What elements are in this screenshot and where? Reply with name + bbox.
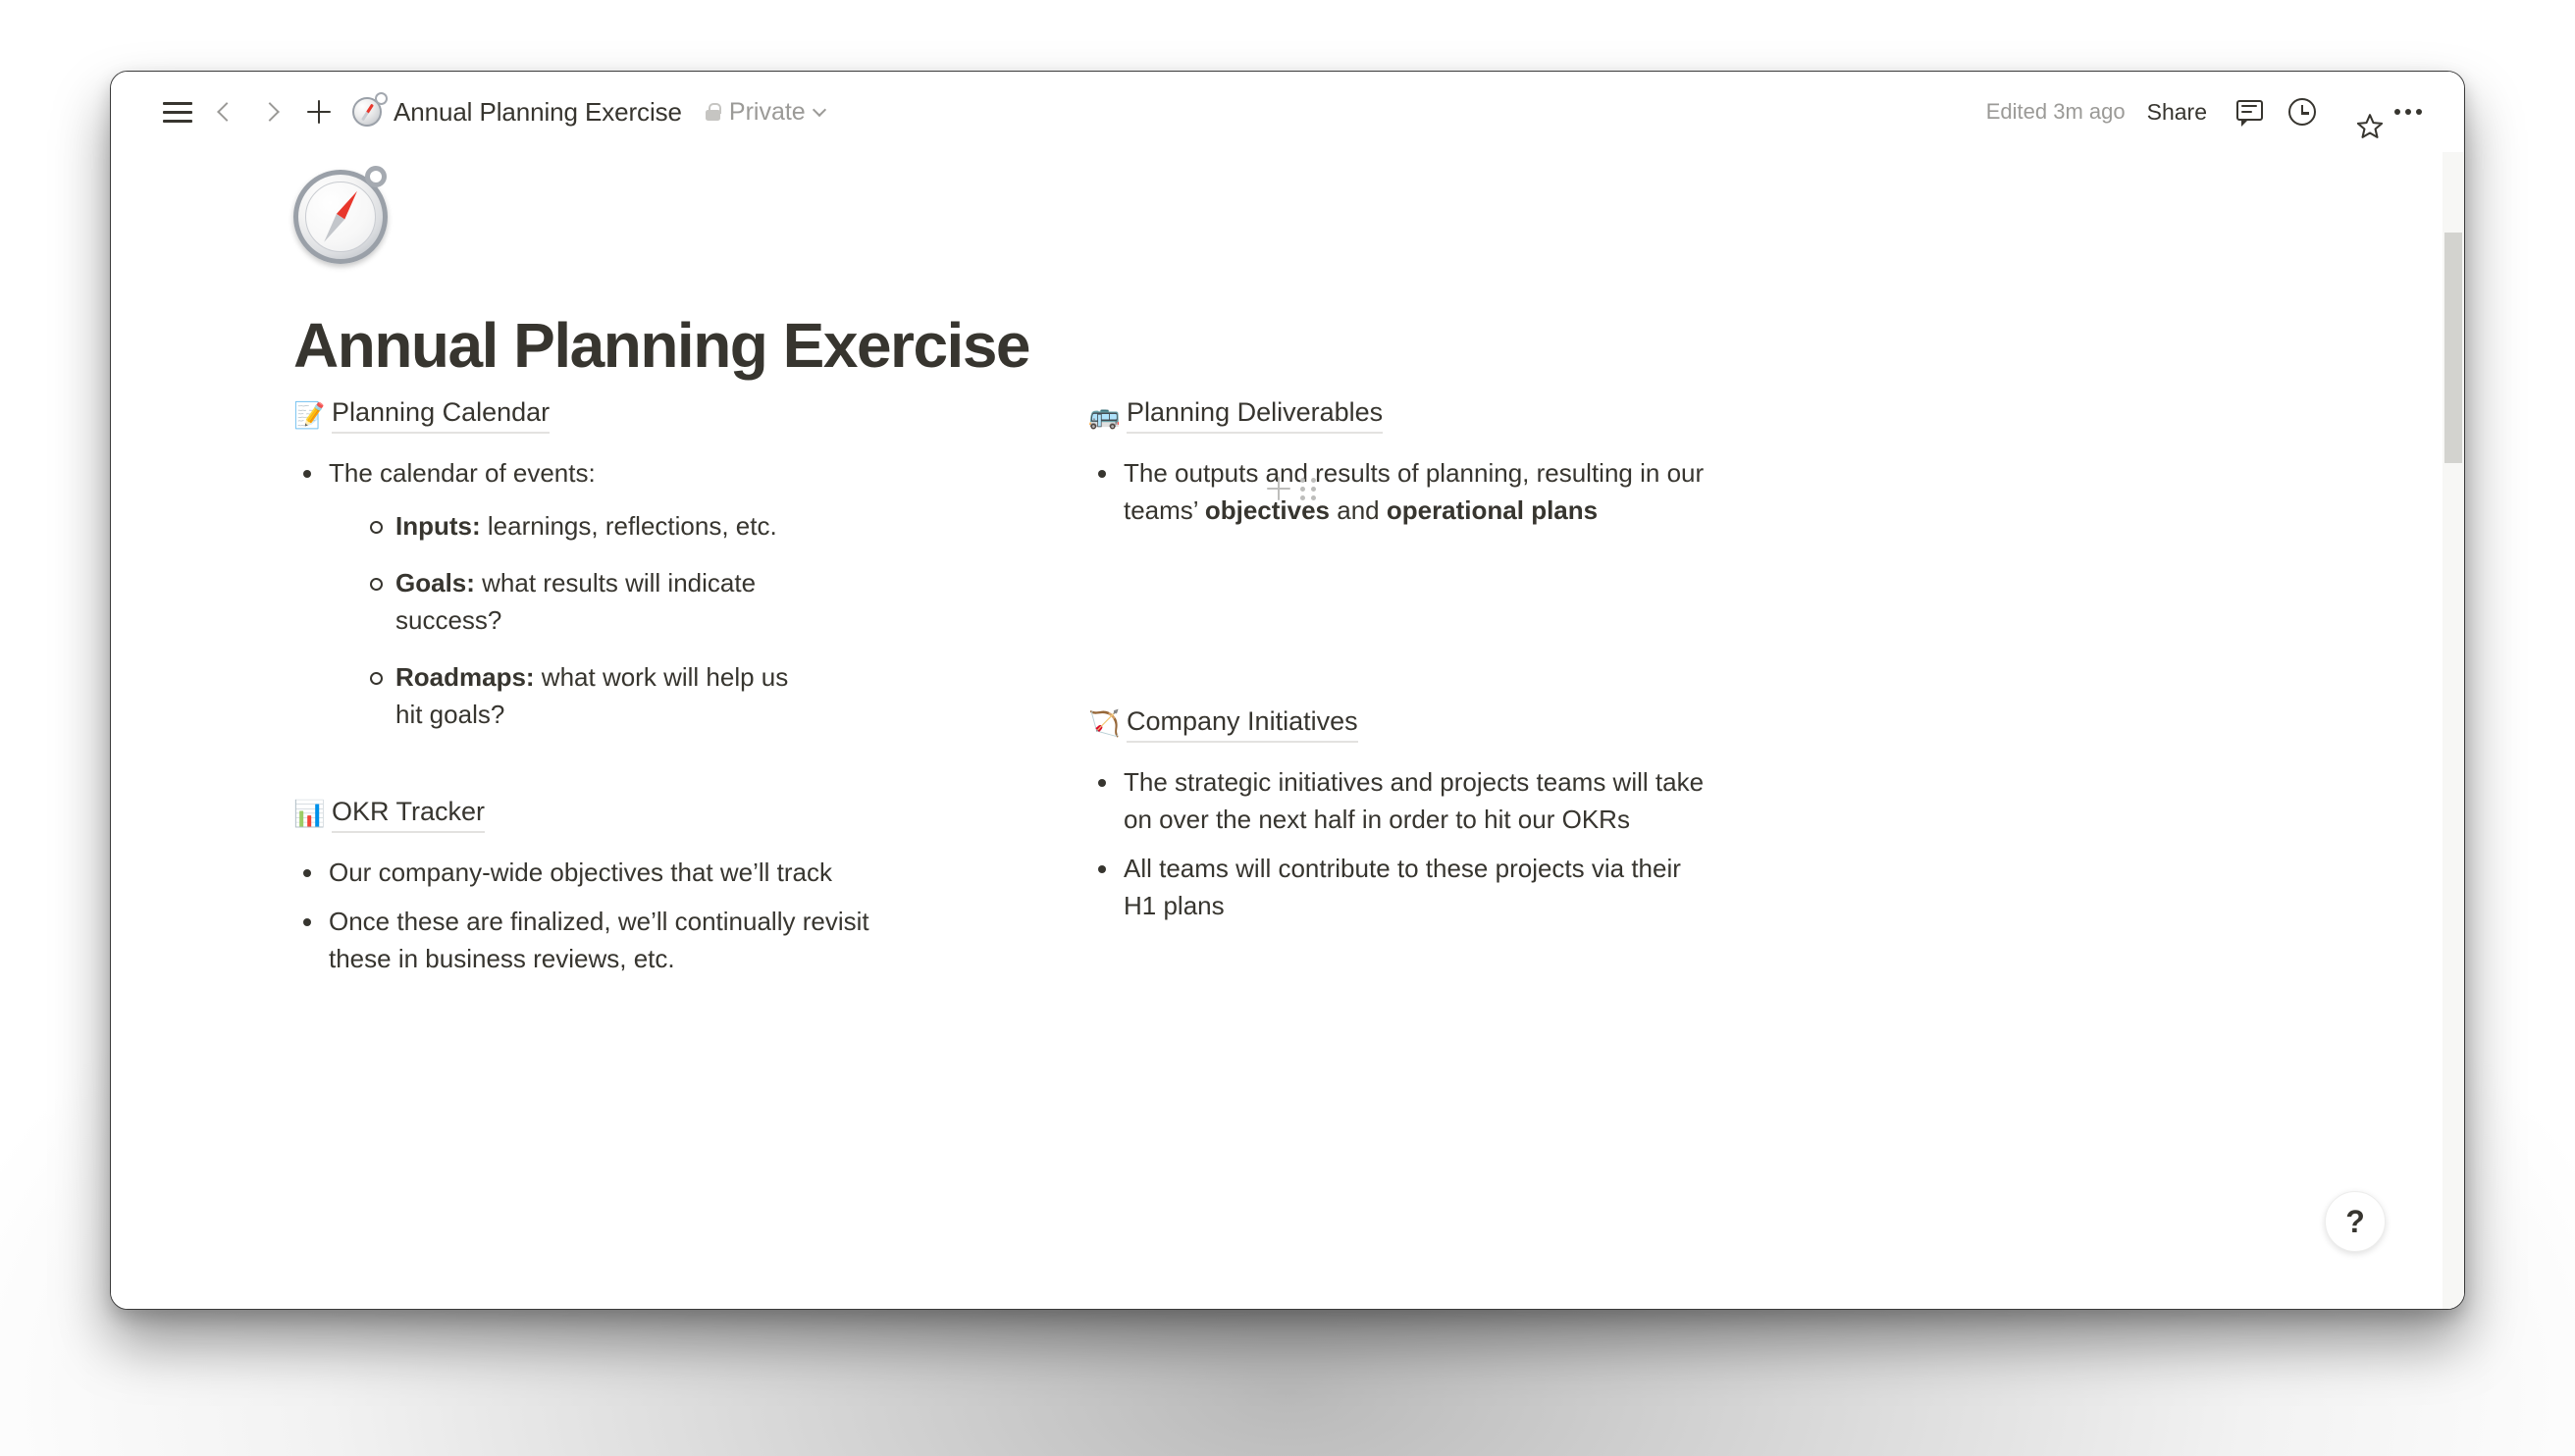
list-item: Inputs: learnings, reflections, etc. bbox=[360, 508, 821, 546]
sidebar-toggle-button[interactable] bbox=[154, 88, 201, 135]
list-item-text: learnings, reflections, etc. bbox=[481, 511, 777, 541]
section-company-initiatives: 🏹 Company Initiatives The strategic init… bbox=[1088, 706, 1707, 925]
forward-button[interactable] bbox=[248, 88, 295, 135]
right-column: 🚌 Planning Deliverables The outputs and … bbox=[1088, 397, 1707, 1039]
section-planning-calendar: 📝 Planning Calendar The calendar of even… bbox=[293, 397, 912, 734]
spiral-notepad-emoji-icon: 📝 bbox=[293, 401, 323, 431]
list-item: The calendar of events: Inputs: learning… bbox=[293, 455, 912, 734]
list-item: Our company‑wide objectives that we’ll t… bbox=[293, 855, 912, 892]
left-column: 📝 Planning Calendar The calendar of even… bbox=[293, 397, 912, 1039]
section-header: 📊 OKR Tracker bbox=[293, 797, 912, 833]
plus-icon bbox=[307, 100, 331, 124]
share-button[interactable]: Share bbox=[2147, 99, 2207, 126]
list-item-bold-label: Roadmaps: bbox=[395, 662, 535, 692]
list-item: Roadmaps: what work will help us hit goa… bbox=[360, 659, 821, 734]
vertical-scrollbar-thumb[interactable] bbox=[2444, 233, 2462, 463]
list-item: All teams will contribute to these proje… bbox=[1088, 851, 1707, 925]
hamburger-icon bbox=[163, 102, 192, 123]
more-options-button[interactable] bbox=[2384, 87, 2433, 136]
section-okr-tracker: 📊 OKR Tracker Our company‑wide objective… bbox=[293, 797, 912, 978]
section-link-okr-tracker[interactable]: OKR Tracker bbox=[332, 797, 485, 833]
list-item-bold-operational-plans: operational plans bbox=[1387, 495, 1598, 525]
list-item: Goals: what results will indicate succes… bbox=[360, 565, 821, 640]
section-planning-deliverables: 🚌 Planning Deliverables The outputs and … bbox=[1088, 397, 1707, 530]
bar-chart-emoji-icon: 📊 bbox=[293, 800, 323, 829]
chevron-down-icon bbox=[813, 102, 826, 116]
vertical-scrollbar-track[interactable] bbox=[2443, 152, 2464, 1309]
list-item-text: The strategic initiatives and projects t… bbox=[1124, 767, 1704, 834]
comments-button[interactable] bbox=[2225, 87, 2274, 136]
bullet-list: The calendar of events: Inputs: learning… bbox=[293, 455, 912, 734]
bow-and-arrow-emoji-icon: 🏹 bbox=[1088, 709, 1118, 739]
list-item-text: Our company‑wide objectives that we’ll t… bbox=[329, 858, 832, 887]
breadcrumb-page-title[interactable]: Annual Planning Exercise bbox=[394, 97, 682, 128]
ellipsis-icon bbox=[2394, 109, 2422, 115]
new-page-button[interactable] bbox=[295, 88, 342, 135]
page-title[interactable]: Annual Planning Exercise bbox=[293, 309, 1029, 382]
topbar-right-group: Edited 3m ago Share bbox=[1986, 87, 2439, 136]
page-history-button[interactable] bbox=[2278, 87, 2327, 136]
top-navigation-bar: Annual Planning Exercise Private Edited … bbox=[111, 72, 2464, 152]
lock-icon bbox=[706, 103, 720, 121]
list-item: Once these are finalized, we’ll continua… bbox=[293, 904, 912, 978]
section-header: 📝 Planning Calendar bbox=[293, 397, 912, 434]
favorite-button[interactable] bbox=[2331, 87, 2380, 136]
content-columns: 📝 Planning Calendar The calendar of even… bbox=[293, 397, 2405, 1039]
section-link-planning-calendar[interactable]: Planning Calendar bbox=[332, 397, 550, 434]
list-item: The outputs and results of planning, res… bbox=[1088, 455, 1707, 530]
list-item: The strategic initiatives and projects t… bbox=[1088, 764, 1707, 839]
chevron-right-icon bbox=[260, 102, 280, 122]
topbar-left-group: Annual Planning Exercise Private bbox=[154, 88, 824, 135]
add-block-button[interactable] bbox=[1267, 477, 1290, 500]
desktop-backdrop: Annual Planning Exercise Private Edited … bbox=[0, 0, 2575, 1456]
back-button[interactable] bbox=[201, 88, 248, 135]
section-header: 🏹 Company Initiatives bbox=[1088, 706, 1707, 743]
section-header: 🚌 Planning Deliverables bbox=[1088, 397, 1707, 434]
chevron-left-icon bbox=[217, 102, 236, 122]
bullet-list: Our company‑wide objectives that we’ll t… bbox=[293, 855, 912, 978]
bullet-list: The outputs and results of planning, res… bbox=[1088, 455, 1707, 530]
compass-icon bbox=[352, 97, 382, 127]
section-link-company-initiatives[interactable]: Company Initiatives bbox=[1127, 706, 1358, 743]
list-item-text: The calendar of events: bbox=[329, 458, 596, 488]
section-link-planning-deliverables[interactable]: Planning Deliverables bbox=[1127, 397, 1383, 434]
page-body: Annual Planning Exercise 📝 Planning Cale… bbox=[111, 152, 2464, 1309]
comment-bubble-icon bbox=[2236, 100, 2263, 125]
page-cover-icon[interactable] bbox=[293, 170, 388, 264]
list-item-text: Once these are finalized, we’ll continua… bbox=[329, 907, 869, 973]
list-item-text: All teams will contribute to these proje… bbox=[1124, 854, 1681, 920]
minibus-emoji-icon: 🚌 bbox=[1088, 401, 1118, 431]
sub-bullet-list: Inputs: learnings, reflections, etc. Goa… bbox=[360, 508, 912, 734]
help-button[interactable]: ? bbox=[2325, 1191, 2386, 1252]
list-item-bold-label: Inputs: bbox=[395, 511, 481, 541]
list-item-bold-label: Goals: bbox=[395, 568, 475, 598]
clock-icon bbox=[2288, 98, 2316, 126]
list-item-text-mid: and bbox=[1330, 495, 1387, 525]
last-edited-label[interactable]: Edited 3m ago bbox=[1986, 99, 2126, 125]
block-hover-controls bbox=[1267, 477, 1316, 500]
app-window: Annual Planning Exercise Private Edited … bbox=[110, 71, 2465, 1310]
drag-handle-icon[interactable] bbox=[1300, 477, 1316, 500]
privacy-selector[interactable]: Private bbox=[706, 98, 824, 127]
compass-emoji-icon bbox=[293, 170, 388, 264]
privacy-label: Private bbox=[729, 98, 806, 127]
bullet-list: The strategic initiatives and projects t… bbox=[1088, 764, 1707, 925]
